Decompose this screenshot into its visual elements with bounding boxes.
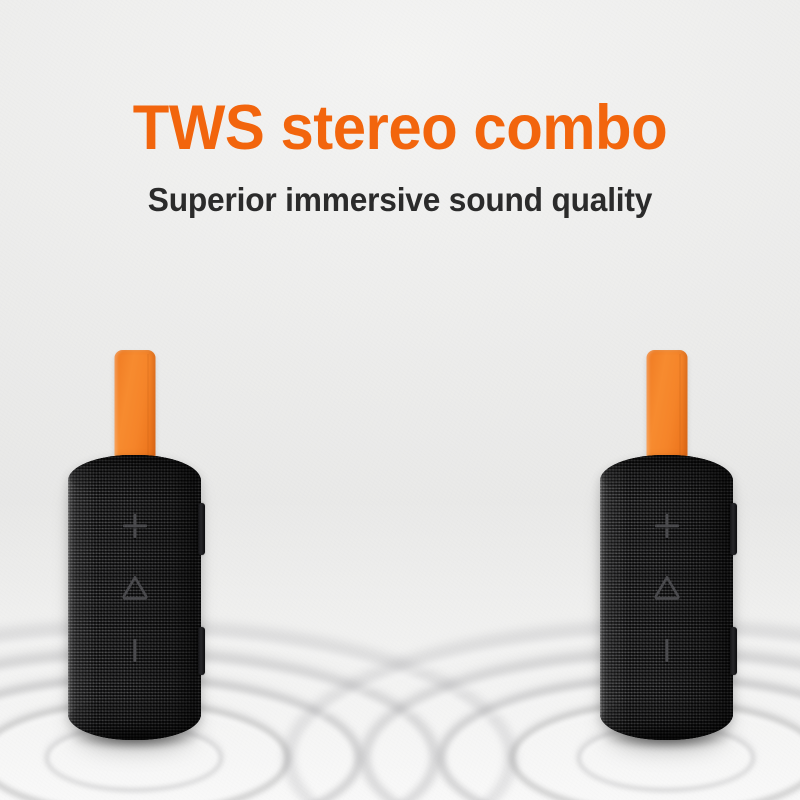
rim-left-layer <box>600 461 603 734</box>
speaker-body <box>68 455 201 740</box>
contact-shadow <box>71 727 199 749</box>
heading-block: TWS stereo combo Superior immersive soun… <box>0 96 800 218</box>
carry-strap-loop[interactable] <box>646 350 687 458</box>
carry-strap-loop[interactable] <box>114 350 155 458</box>
page-title: TWS stereo combo <box>20 96 780 160</box>
side-button-upper[interactable] <box>730 503 737 555</box>
power-play-logo[interactable] <box>652 573 682 603</box>
power-play-logo[interactable] <box>120 573 150 603</box>
portable-bluetooth-speaker-left[interactable] <box>68 455 201 740</box>
control-panel <box>112 511 158 665</box>
product-banner: TWS stereo combo Superior immersive soun… <box>0 0 800 800</box>
page-subtitle: Superior immersive sound quality <box>16 183 784 218</box>
volume-up-button[interactable] <box>652 511 682 541</box>
triangle-logo-icon <box>120 573 150 601</box>
top-cap-layer <box>68 455 201 495</box>
volume-up-button[interactable] <box>120 511 150 541</box>
triangle-logo-icon <box>652 573 682 601</box>
speaker-body <box>600 455 733 740</box>
contact-shadow <box>603 727 731 749</box>
control-panel <box>644 511 690 665</box>
ripple-ring <box>0 648 440 800</box>
portable-bluetooth-speaker-right[interactable] <box>600 455 733 740</box>
side-button-upper[interactable] <box>198 503 205 555</box>
top-cap-layer <box>600 455 733 495</box>
volume-down-button[interactable] <box>652 635 682 665</box>
volume-down-button[interactable] <box>120 635 150 665</box>
rim-left-layer <box>68 461 71 734</box>
side-button-lower[interactable] <box>730 627 737 675</box>
side-button-lower[interactable] <box>198 627 205 675</box>
